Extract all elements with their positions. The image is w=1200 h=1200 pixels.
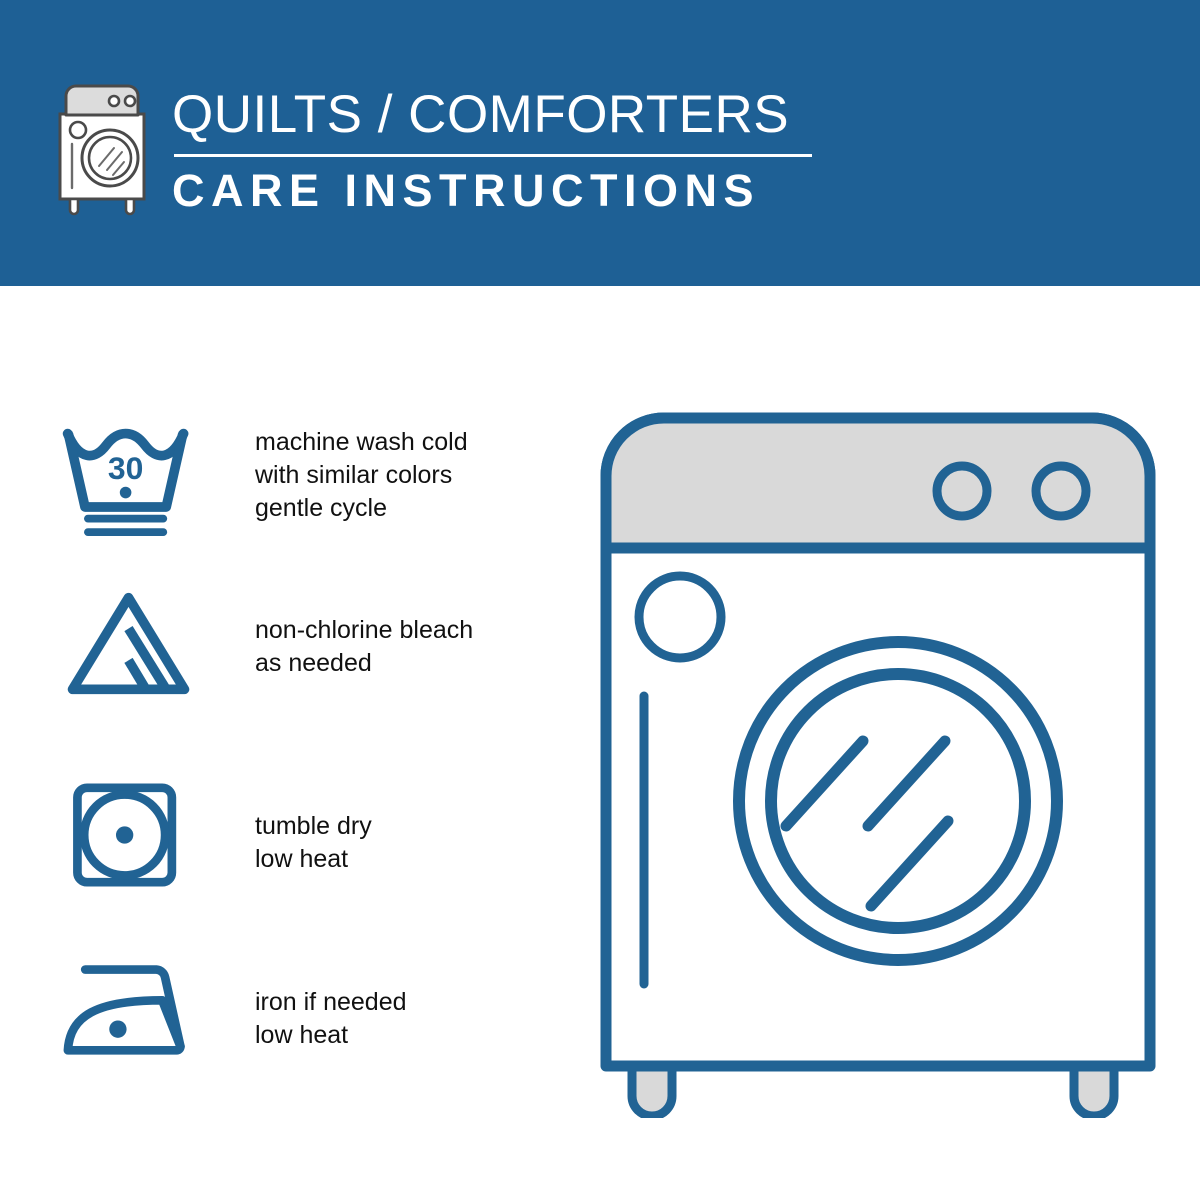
detergent-dispenser-circle <box>639 576 721 658</box>
non-chlorine-bleach-triangle-icon <box>56 588 201 699</box>
wash-tub-30-gentle-icon: 30 <box>56 418 201 539</box>
care-label-line: gentle cycle <box>255 492 468 525</box>
page-title: QUILTS / COMFORTERS <box>172 84 832 146</box>
care-label-line: low heat <box>255 843 372 876</box>
title-divider <box>174 154 812 157</box>
care-label-line: iron if needed <box>255 986 407 1019</box>
care-row-bleach: non-chlorine bleach as needed <box>56 588 526 699</box>
care-label-line: machine wash cold <box>255 426 468 459</box>
care-label-tumble-dry: tumble dry low heat <box>255 810 372 876</box>
care-row-iron: iron if needed low heat <box>56 958 526 1059</box>
washing-machine-logo-icon <box>52 82 162 217</box>
care-label-line: as needed <box>255 647 473 680</box>
tumble-dry-low-heat-icon <box>56 782 201 888</box>
care-instructions-infographic: QUILTS / COMFORTERS CARE INSTRUCTIONS 30… <box>0 0 1200 1200</box>
care-label-bleach: non-chlorine bleach as needed <box>255 614 473 680</box>
care-label-line: with similar colors <box>255 459 468 492</box>
wash-temperature-value: 30 <box>108 450 143 486</box>
iron-low-heat-icon <box>56 958 201 1059</box>
control-knob-left <box>937 466 987 516</box>
header-banner: QUILTS / COMFORTERS CARE INSTRUCTIONS <box>0 0 1200 286</box>
care-row-wash: 30 machine wash cold with similar colors… <box>56 418 526 539</box>
care-label-line: low heat <box>255 1019 407 1052</box>
care-label-line: tumble dry <box>255 810 372 843</box>
care-label-wash: machine wash cold with similar colors ge… <box>255 426 468 525</box>
care-label-line: non-chlorine bleach <box>255 614 473 647</box>
header-title-block: QUILTS / COMFORTERS CARE INSTRUCTIONS <box>172 84 832 219</box>
care-label-iron: iron if needed low heat <box>255 986 407 1052</box>
care-row-tumble-dry: tumble dry low heat <box>56 782 526 888</box>
control-knob-right <box>1036 466 1086 516</box>
page-subtitle: CARE INSTRUCTIONS <box>172 163 832 219</box>
washing-machine-illustration <box>596 406 1164 1118</box>
